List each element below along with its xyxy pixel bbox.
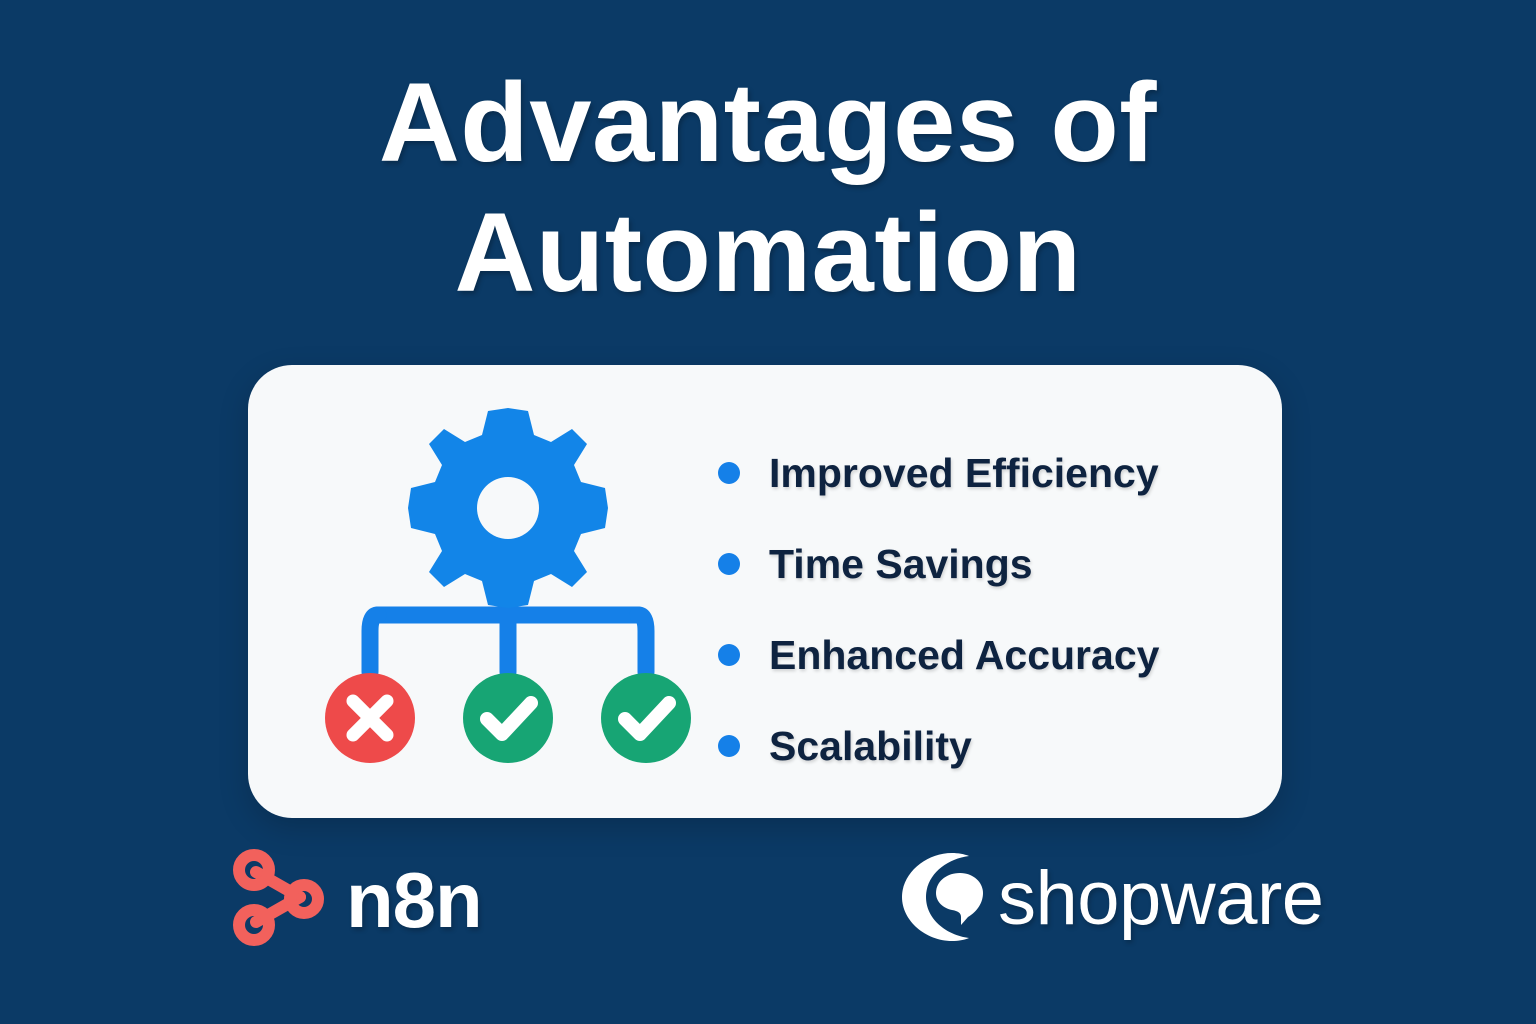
list-item-label: Scalability [769, 723, 972, 769]
list-item-label: Improved Efficiency [769, 450, 1159, 496]
shopware-wordmark: shopware [998, 859, 1324, 939]
list-item: Scalability [718, 700, 1258, 791]
shopware-crescent-icon [888, 847, 986, 950]
bullet-dot-icon [718, 553, 740, 575]
gear-icon [408, 408, 608, 608]
advantages-list: Improved Efficiency Time Savings Enhance… [718, 427, 1258, 791]
automation-flow-diagram [308, 400, 708, 780]
footer-logos: n8n shopware [0, 833, 1536, 978]
list-item: Improved Efficiency [718, 427, 1258, 518]
n8n-logo: n8n [228, 845, 482, 954]
title-line-1: Advantages of [0, 58, 1536, 188]
n8n-nodes-icon [228, 845, 332, 954]
node-fail-cross [325, 673, 415, 763]
shopware-logo: shopware [888, 847, 1324, 950]
node-success-check-1 [463, 673, 553, 763]
list-item: Enhanced Accuracy [718, 609, 1258, 700]
list-item-label: Enhanced Accuracy [769, 632, 1159, 678]
list-item: Time Savings [718, 518, 1258, 609]
list-item-label: Time Savings [769, 541, 1033, 587]
title-line-2: Automation [0, 188, 1536, 318]
node-success-check-2 [601, 673, 691, 763]
page-title: Advantages of Automation [0, 58, 1536, 318]
content-card: Improved Efficiency Time Savings Enhance… [248, 365, 1282, 818]
infographic-canvas: Advantages of Automation [0, 0, 1536, 1024]
bullet-dot-icon [718, 462, 740, 484]
bullet-dot-icon [718, 644, 740, 666]
bullet-dot-icon [718, 735, 740, 757]
n8n-wordmark: n8n [346, 860, 482, 940]
